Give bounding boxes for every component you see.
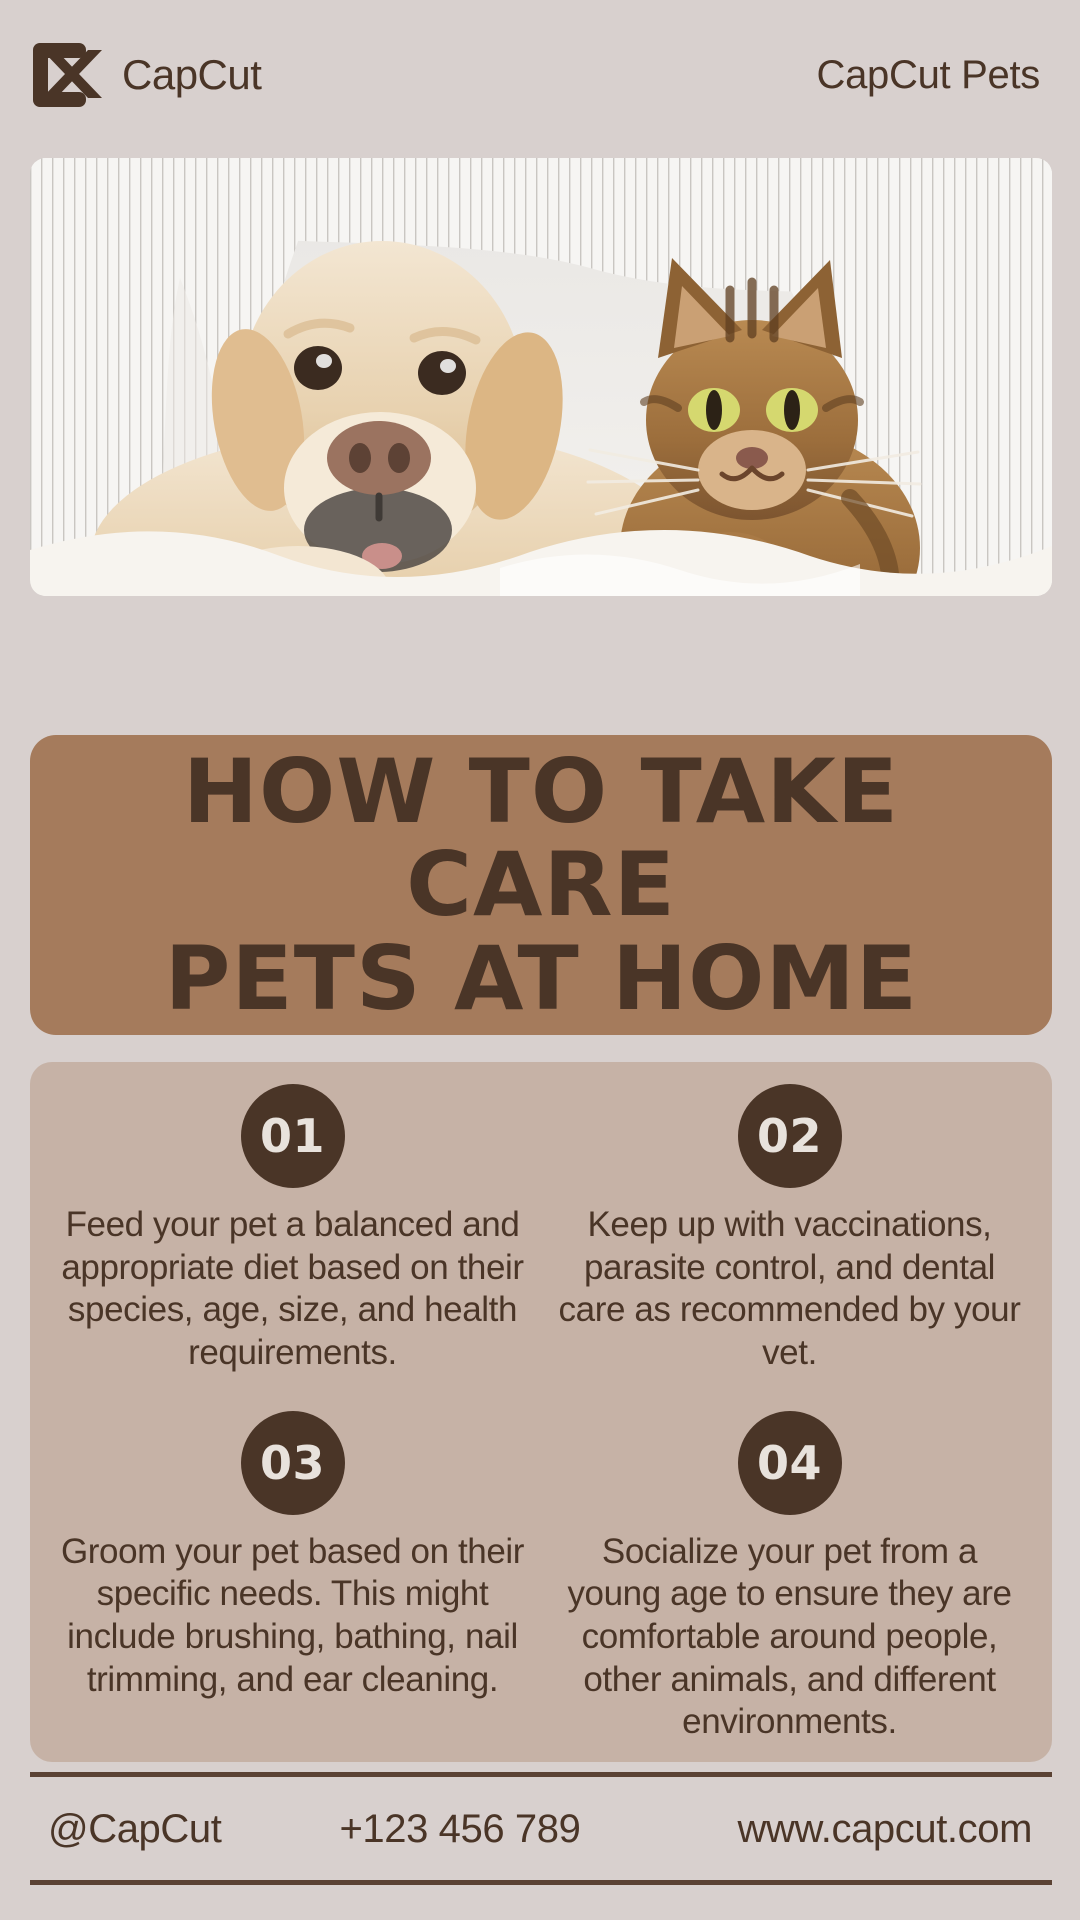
step-item-02: 02 Keep up with vaccinations, parasite c… (541, 1084, 1038, 1411)
step-badge-01: 01 (241, 1084, 345, 1188)
step-number: 02 (757, 1113, 822, 1159)
step-item-04: 04 Socialize your pet from a young age t… (541, 1411, 1038, 1744)
step-text: Socialize your pet from a young age to e… (555, 1531, 1024, 1744)
brand[interactable]: CapCut (30, 40, 261, 110)
footer-social-handle[interactable]: @CapCut (48, 1809, 221, 1849)
page-footer: @CapCut +123 456 789 www.capcut.com (30, 1777, 1052, 1880)
page-title-line-1: HOW TO TAKE CARE (61, 745, 1022, 932)
step-item-03: 03 Groom your pet based on their specifi… (44, 1411, 541, 1744)
step-text: Feed your pet a balanced and appropriate… (58, 1204, 527, 1375)
capcut-logo-icon (30, 40, 104, 110)
step-badge-04: 04 (738, 1411, 842, 1515)
step-text: Keep up with vaccinations, parasite cont… (555, 1204, 1024, 1375)
step-item-01: 01 Feed your pet a balanced and appropri… (44, 1084, 541, 1411)
footer-phone[interactable]: +123 456 789 (339, 1809, 580, 1849)
step-text: Groom your pet based on their specific n… (58, 1531, 527, 1702)
footer-divider-bottom (30, 1880, 1052, 1885)
step-badge-03: 03 (241, 1411, 345, 1515)
step-number: 01 (260, 1113, 325, 1159)
footer-website[interactable]: www.capcut.com (738, 1809, 1033, 1849)
header-right-label: CapCut Pets (817, 55, 1040, 95)
step-number: 04 (757, 1440, 822, 1486)
steps-card: 01 Feed your pet a balanced and appropri… (30, 1062, 1052, 1762)
hero-image (30, 158, 1052, 596)
page-title-line-2: PETS AT HOME (164, 932, 918, 1025)
step-badge-02: 02 (738, 1084, 842, 1188)
title-banner: HOW TO TAKE CARE PETS AT HOME (30, 735, 1052, 1035)
brand-name: CapCut (122, 54, 261, 96)
page-header: CapCut CapCut Pets (0, 0, 1080, 150)
step-number: 03 (260, 1440, 325, 1486)
infographic-page: CapCut CapCut Pets (0, 0, 1080, 1920)
